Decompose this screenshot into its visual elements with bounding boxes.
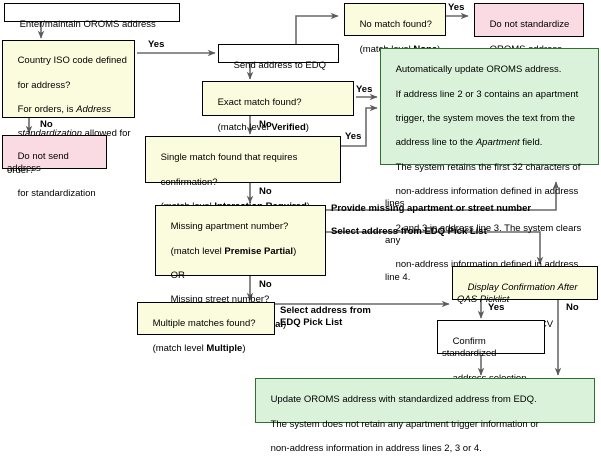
auto-update-line3: trigger, the system moves the text from … <box>396 113 576 124</box>
edge-label-select-picklist-2-line2: EDQ Pick List <box>280 317 342 328</box>
multiple-line2a: (match level <box>153 343 207 354</box>
auto-update-line4b: field. <box>520 137 543 148</box>
node-enter-address[interactable]: Enter/maintain OROMS address <box>4 3 180 22</box>
auto-update-line2: If address line 2 or 3 contains an apart… <box>396 89 579 100</box>
edge-label-single-yes: Yes <box>345 131 361 142</box>
edge-label-exact-no: No <box>259 119 272 130</box>
node-update-address[interactable]: Update OROMS address with standardized a… <box>255 378 595 423</box>
auto-update-line5: The system retains the first 32 characte… <box>396 162 581 173</box>
node-country-iso[interactable]: Country ISO code defined for address? Fo… <box>2 40 135 118</box>
update-line1: Update OROMS address with standardized a… <box>271 394 537 405</box>
node-single-match[interactable]: Single match found that requires confirm… <box>145 136 341 183</box>
confirm-line1: Confirm standardized <box>442 336 496 359</box>
edge-label-select-picklist-1: Select address from EDQ Pick List <box>331 226 487 237</box>
country-iso-line1: Country ISO code defined <box>18 55 127 66</box>
edge-label-provide-missing: Provide missing apartment or street numb… <box>331 203 531 214</box>
do-not-send-line1: Do not send address <box>7 151 71 174</box>
edge-send-to-nomatch <box>296 16 338 45</box>
edge-label-display-yes: Yes <box>488 302 504 313</box>
auto-update-apartment-field: Apartment <box>476 137 520 148</box>
edge-label-no-match-yes: Yes <box>448 2 464 13</box>
missing-line1: Missing apartment number? <box>171 221 289 232</box>
node-send-to-edq[interactable]: Send address to EDQ <box>218 44 339 63</box>
edge-label-country-yes: Yes <box>148 39 164 50</box>
edge-label-missing-no: No <box>259 279 272 290</box>
send-to-edq-text: Send address to EDQ <box>234 60 326 71</box>
multiple-line2c: ) <box>242 343 245 354</box>
country-iso-line2: for address? <box>18 80 71 91</box>
node-exact-match[interactable]: Exact match found? (match level Verified… <box>202 81 354 116</box>
edge-label-country-no: No <box>40 119 53 130</box>
node-do-not-send[interactable]: Do not send address for standardization <box>2 135 107 169</box>
node-display-confirmation[interactable]: Display Confirmation After QAS Picklist … <box>452 266 598 300</box>
country-iso-line3a: For orders, is <box>18 104 77 115</box>
missing-line2c: ) <box>293 246 296 257</box>
edge-label-single-no: No <box>259 186 272 197</box>
node-missing-numbers[interactable]: Missing apartment number? (match level P… <box>155 205 326 276</box>
missing-line3: OR <box>171 270 185 281</box>
do-not-standardize-line1: Do not standardize <box>490 19 570 30</box>
exact-match-line2c: ) <box>306 122 309 133</box>
missing-premise-level: Premise Partial <box>224 246 293 257</box>
node-do-not-standardize[interactable]: Do not standardize OROMS address <box>474 3 584 37</box>
no-match-line1: No match found? <box>360 19 432 30</box>
single-match-line1: Single match found that requires <box>161 152 298 163</box>
enter-address-text: Enter/maintain OROMS address <box>20 19 156 30</box>
edge-label-exact-yes: Yes <box>356 84 372 95</box>
flowchart-canvas: Enter/maintain OROMS address Country ISO… <box>0 0 601 427</box>
display-confirm-line1: Display Confirmation After QAS Picklist <box>457 282 580 305</box>
country-iso-line3-em: Address <box>76 104 111 115</box>
multiple-line1: Multiple matches found? <box>153 318 256 329</box>
exact-match-line1: Exact match found? <box>218 97 302 108</box>
node-no-match[interactable]: No match found? (match level None) <box>344 3 446 36</box>
auto-update-line4a: address line to the <box>396 137 476 148</box>
update-line3: non-address information in address lines… <box>271 443 482 454</box>
exact-match-level: Verified <box>271 122 305 133</box>
node-multiple-matches[interactable]: Multiple matches found? (match level Mul… <box>137 302 275 335</box>
edge-label-select-picklist-2-line1: Select address from <box>280 305 371 316</box>
node-confirm-selection[interactable]: Confirm standardized address selection <box>437 320 545 354</box>
update-line2: The system does not retain any apartment… <box>271 419 539 430</box>
multiple-match-level: Multiple <box>206 343 242 354</box>
single-match-line2: confirmation? <box>161 177 218 188</box>
edge-label-display-no: No <box>566 302 579 313</box>
node-auto-update[interactable]: Automatically update OROMS address. If a… <box>380 48 599 165</box>
missing-line2a: (match level <box>171 246 225 257</box>
auto-update-line1: Automatically update OROMS address. <box>396 64 562 75</box>
do-not-send-line2: for standardization <box>18 188 96 199</box>
